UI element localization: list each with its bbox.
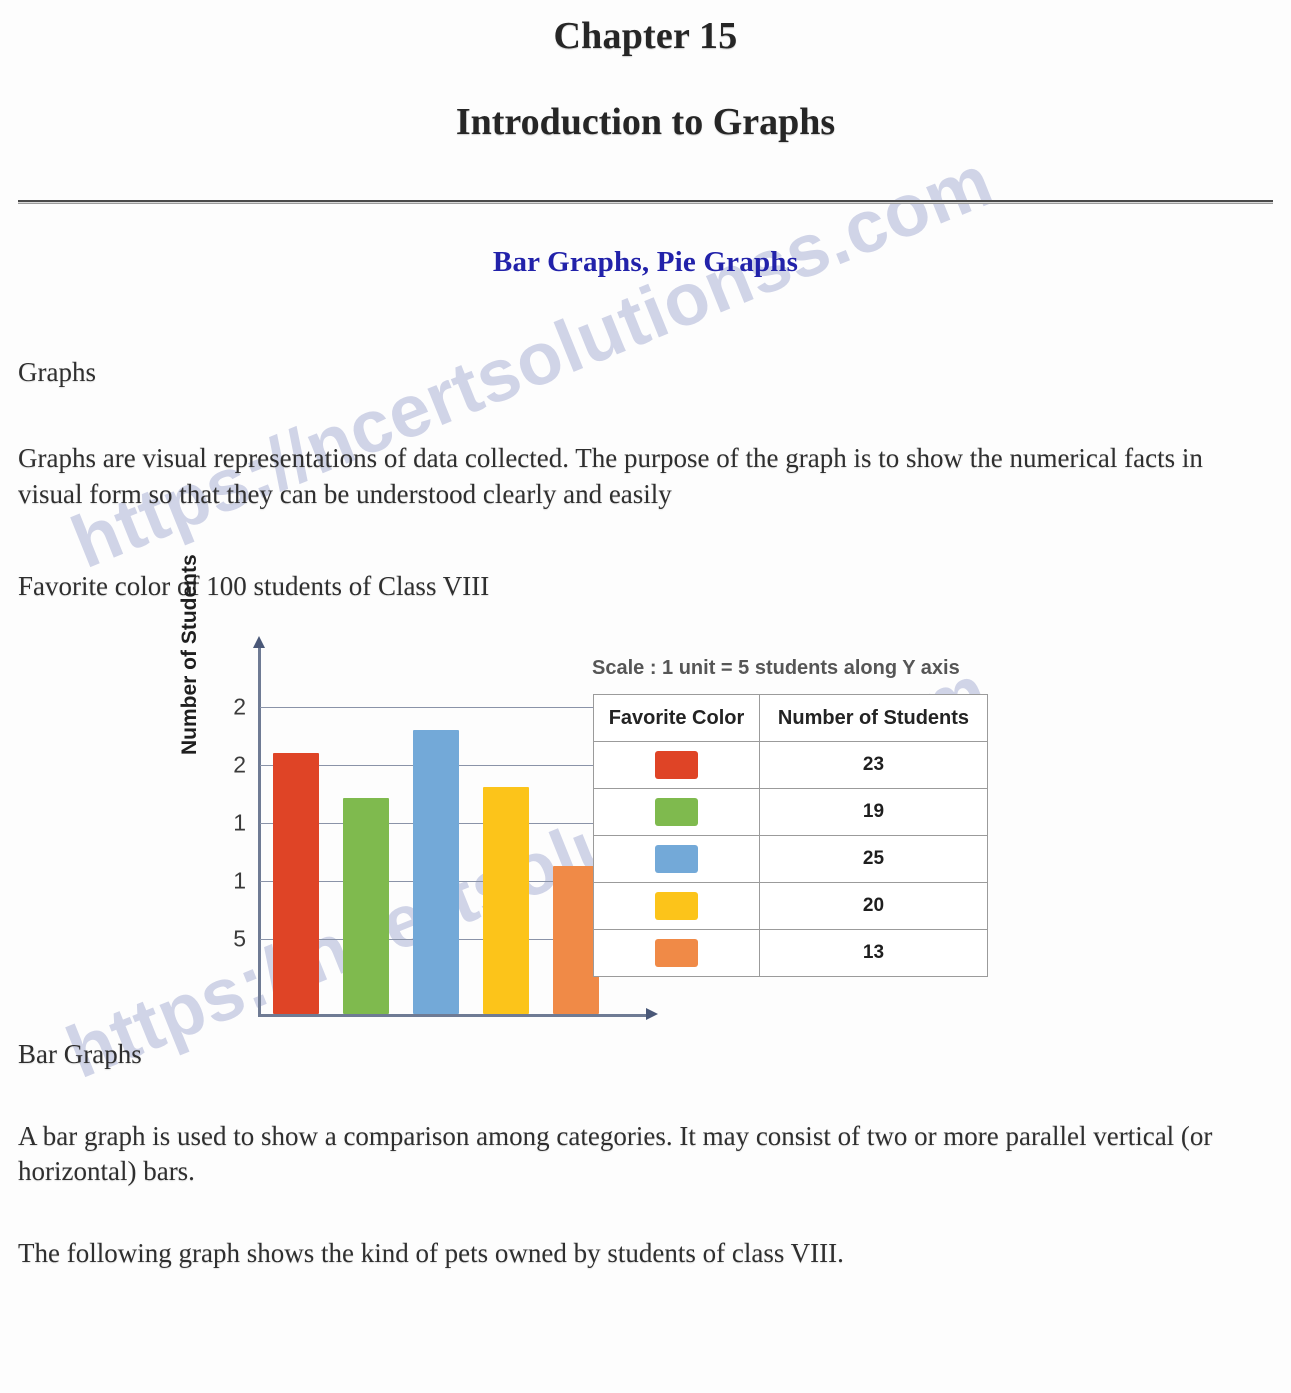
color-swatch [655, 939, 698, 967]
bar-graphs-paragraph: A bar graph is used to show a comparison… [18, 1119, 1263, 1191]
y-tick-label: 2 [233, 693, 246, 720]
x-axis-line [258, 1014, 646, 1017]
section-heading: Bar Graphs, Pie Graphs [18, 246, 1273, 279]
table-cell-students: 25 [759, 836, 987, 883]
bar-graphs-heading: Bar Graphs [18, 1037, 1273, 1073]
color-swatch [655, 798, 698, 826]
table-cell-students: 20 [759, 883, 987, 930]
color-swatch [655, 751, 698, 779]
table-cell-color [594, 836, 760, 883]
table-body: 2319252013 [594, 742, 988, 977]
table-cell-students: 23 [759, 742, 987, 789]
bar [413, 730, 459, 1014]
scale-note: Scale : 1 unit = 5 students along Y axis [592, 657, 1178, 680]
bar [343, 798, 389, 1014]
favorite-color-figure: Number of Students 22115 Scale : 1 unit … [18, 637, 1178, 1037]
y-tick-label: 1 [233, 809, 246, 836]
y-axis-title: Number of Students [178, 554, 202, 755]
document-page: Chapter 15 Introduction to Graphs Bar Gr… [0, 6, 1291, 1272]
color-swatch [655, 892, 698, 920]
bar [483, 787, 529, 1014]
chapter-subtitle: Introduction to Graphs [18, 100, 1273, 144]
table-cell-color [594, 883, 760, 930]
favorite-color-table: Favorite Color Number of Students 231925… [593, 694, 988, 977]
table-row: 23 [594, 742, 988, 789]
graphs-heading: Graphs [18, 355, 1273, 391]
y-tick-label: 2 [233, 751, 246, 778]
table-header-row: Favorite Color Number of Students [594, 694, 988, 741]
horizontal-divider [18, 200, 1273, 204]
bar [273, 753, 319, 1014]
table-cell-students: 19 [759, 789, 987, 836]
data-table-block: Scale : 1 unit = 5 students along Y axis… [578, 637, 1178, 977]
y-tick-label: 1 [233, 867, 246, 894]
color-swatch [655, 845, 698, 873]
table-header-students: Number of Students [759, 694, 987, 741]
table-row: 19 [594, 789, 988, 836]
graphs-paragraph: Graphs are visual representations of dat… [18, 441, 1263, 513]
table-row: 20 [594, 883, 988, 930]
table-cell-color [594, 742, 760, 789]
table-row: 25 [594, 836, 988, 883]
table-cell-color [594, 789, 760, 836]
table-cell-students: 13 [759, 930, 987, 977]
following-graph-line: The following graph shows the kind of pe… [18, 1236, 1273, 1272]
favorite-color-caption: Favorite color of 100 students of Class … [18, 569, 1273, 605]
table-cell-color [594, 930, 760, 977]
table-row: 13 [594, 930, 988, 977]
bar-series [261, 704, 623, 1014]
chapter-title: Chapter 15 [18, 6, 1273, 58]
y-tick-label: 5 [233, 925, 246, 952]
table-header-color: Favorite Color [594, 694, 760, 741]
y-axis-tick-labels: 22115 [212, 697, 246, 997]
